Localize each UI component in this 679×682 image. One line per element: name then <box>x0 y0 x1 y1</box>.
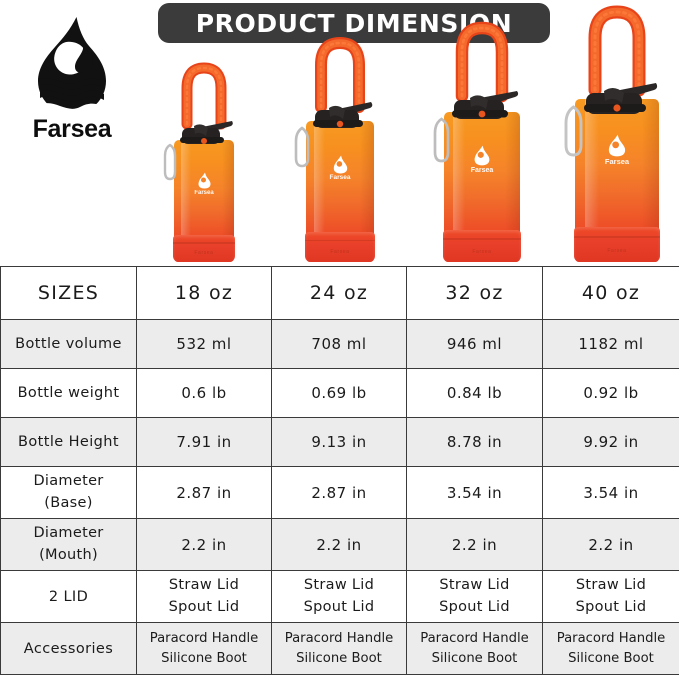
bottle-image-18oz: Farsea Farsea <box>163 60 245 262</box>
cell-value-line2: Spout Lid <box>274 597 404 618</box>
cell-value: Paracord Handle Silicone Boot <box>407 623 543 675</box>
cell-value-line1: Straw Lid <box>439 577 509 593</box>
cell-value-line1: Straw Lid <box>576 577 646 593</box>
paracord-handle-icon <box>582 4 652 90</box>
brand-name: Farsea <box>14 117 130 142</box>
cell-value: 2.2 in <box>137 519 272 571</box>
table-header-row: SIZES 18 oz 24 oz 32 oz 40 oz <box>1 267 679 320</box>
cell-value: 9.13 in <box>272 418 407 467</box>
row-label-line2: (Mouth) <box>3 545 134 566</box>
cell-value-line1: Paracord Handle <box>150 631 259 646</box>
table-row: Bottle volume 532 ml 708 ml 946 ml 1182 … <box>1 320 679 369</box>
cell-value: Paracord Handle Silicone Boot <box>543 623 679 675</box>
table-row: 2 LID Straw Lid Spout Lid Straw Lid Spou… <box>1 571 679 623</box>
cell-value: 946 ml <box>407 320 543 369</box>
row-label-line2: (Base) <box>3 493 134 514</box>
row-label: Bottle volume <box>1 320 137 369</box>
cell-value-line1: Straw Lid <box>304 577 374 593</box>
cell-value-line1: Paracord Handle <box>557 631 666 646</box>
table-row: Bottle weight 0.6 lb 0.69 lb 0.84 lb 0.9… <box>1 369 679 418</box>
cell-value: 0.6 lb <box>137 369 272 418</box>
boot-text: Farsea <box>443 249 521 255</box>
cell-value: 2.2 in <box>543 519 679 571</box>
header-section: Farsea PRODUCT DIMENSION <box>0 0 679 262</box>
row-label: Bottle Height <box>1 418 137 467</box>
paracord-handle-icon <box>310 35 370 107</box>
paracord-handle-icon <box>177 60 231 124</box>
cell-value: 532 ml <box>137 320 272 369</box>
column-header-sizes: SIZES <box>1 267 137 320</box>
cell-value-line1: Paracord Handle <box>285 631 394 646</box>
cell-value: 1182 ml <box>543 320 679 369</box>
cell-value: 2.87 in <box>137 467 272 519</box>
cell-value: 3.54 in <box>543 467 679 519</box>
product-dimension-table: SIZES 18 oz 24 oz 32 oz 40 oz Bottle vol… <box>0 266 679 675</box>
cell-value-line2: Silicone Boot <box>545 649 677 668</box>
row-label-line1: Diameter <box>33 473 103 489</box>
table-row: Bottle Height 7.91 in 9.13 in 8.78 in 9.… <box>1 418 679 467</box>
table-row: Diameter (Base) 2.87 in 2.87 in 3.54 in … <box>1 467 679 519</box>
column-header-40oz: 40 oz <box>543 267 679 320</box>
cell-value: 0.92 lb <box>543 369 679 418</box>
cell-value: 2.2 in <box>272 519 407 571</box>
cell-value-line1: Straw Lid <box>169 577 239 593</box>
cell-value: Straw Lid Spout Lid <box>543 571 679 623</box>
column-header-18oz: 18 oz <box>137 267 272 320</box>
cell-value: 708 ml <box>272 320 407 369</box>
silicone-boot: Farsea <box>305 232 375 262</box>
bottle-image-40oz: Farsea Farsea <box>564 4 670 262</box>
bottle-lid-icon <box>444 88 520 126</box>
cell-value-line2: Silicone Boot <box>274 649 404 668</box>
cell-value: Straw Lid Spout Lid <box>407 571 543 623</box>
row-label: Diameter (Base) <box>1 467 137 519</box>
bottle-lid-icon <box>174 118 234 150</box>
table-row: Diameter (Mouth) 2.2 in 2.2 in 2.2 in 2.… <box>1 519 679 571</box>
cell-value: Paracord Handle Silicone Boot <box>272 623 407 675</box>
row-label: Accessories <box>1 623 137 675</box>
cell-value-line2: Silicone Boot <box>409 649 540 668</box>
table-row: Accessories Paracord Handle Silicone Boo… <box>1 623 679 675</box>
boot-text: Farsea <box>574 248 660 254</box>
silicone-boot: Farsea <box>443 230 521 262</box>
boot-text: Farsea <box>305 249 375 255</box>
cell-value: Paracord Handle Silicone Boot <box>137 623 272 675</box>
brand-logo: Farsea <box>14 16 130 142</box>
cell-value: 2.2 in <box>407 519 543 571</box>
cell-value-line2: Spout Lid <box>545 597 677 618</box>
bottle-image-32oz: Farsea Farsea <box>433 20 531 262</box>
cell-value: 0.69 lb <box>272 369 407 418</box>
cell-value: 8.78 in <box>407 418 543 467</box>
cell-value: Straw Lid Spout Lid <box>272 571 407 623</box>
cell-value: 7.91 in <box>137 418 272 467</box>
paracord-handle-icon <box>450 20 514 96</box>
silicone-boot: Farsea <box>173 235 235 262</box>
row-label: Diameter (Mouth) <box>1 519 137 571</box>
row-label-line1: Diameter <box>33 525 103 541</box>
bottle-lid-icon <box>306 99 374 135</box>
row-label: Bottle weight <box>1 369 137 418</box>
bottle-lid-icon <box>575 80 659 122</box>
cell-value: 3.54 in <box>407 467 543 519</box>
cell-value: 9.92 in <box>543 418 679 467</box>
cell-value-line2: Spout Lid <box>409 597 540 618</box>
water-drop-wave-logo-icon <box>29 16 115 116</box>
bottle-image-24oz: Farsea Farsea <box>294 35 386 262</box>
cell-value-line1: Paracord Handle <box>420 631 529 646</box>
silicone-boot: Farsea <box>574 227 660 262</box>
column-header-32oz: 32 oz <box>407 267 543 320</box>
boot-text: Farsea <box>173 250 235 256</box>
row-label: 2 LID <box>1 571 137 623</box>
column-header-24oz: 24 oz <box>272 267 407 320</box>
cell-value: 0.84 lb <box>407 369 543 418</box>
cell-value: 2.87 in <box>272 467 407 519</box>
cell-value-line2: Silicone Boot <box>139 649 269 668</box>
cell-value: Straw Lid Spout Lid <box>137 571 272 623</box>
cell-value-line2: Spout Lid <box>139 597 269 618</box>
